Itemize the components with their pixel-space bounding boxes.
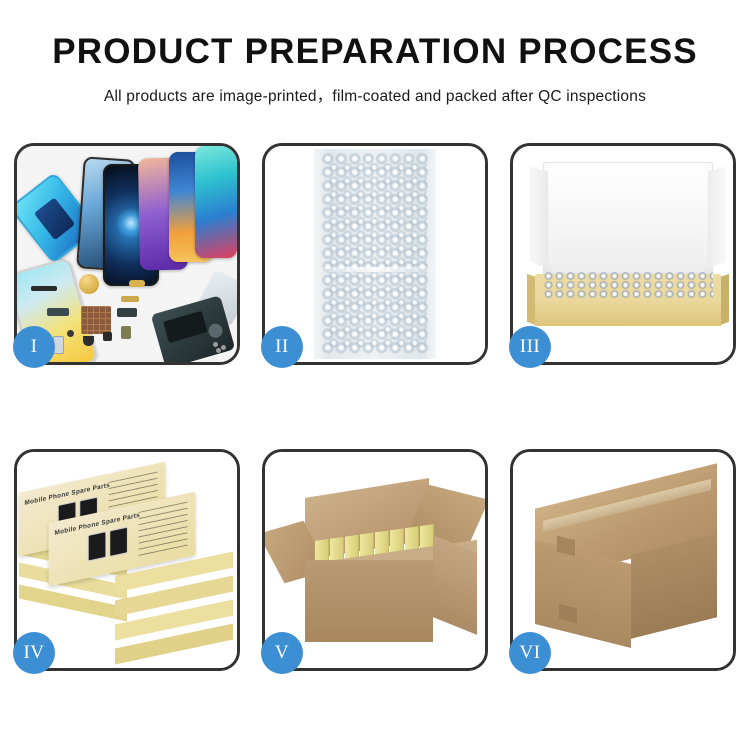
step-badge-6: VI — [509, 632, 551, 674]
connector-gold-icon — [129, 280, 145, 287]
camera-module-icon — [117, 308, 137, 317]
step-panel-1: I — [14, 143, 240, 365]
chip-array-icon — [81, 306, 111, 334]
step-badge-4: IV — [13, 632, 55, 674]
carton-front-face — [305, 560, 433, 642]
box-spec-lines-2 — [139, 502, 188, 557]
flex-connector-icon — [121, 296, 139, 302]
step-panel-2: II — [262, 143, 488, 365]
phone-screen-teal-icon — [195, 146, 237, 258]
carton-right-face — [433, 535, 477, 635]
step-panel-3: III — [510, 143, 736, 365]
step-badge-1: I — [13, 326, 55, 368]
page-title: PRODUCT PREPARATION PROCESS — [0, 34, 750, 71]
header: PRODUCT PREPARATION PROCESS All products… — [0, 0, 750, 106]
step-panel-6: VI — [510, 449, 736, 671]
wrap-seam — [314, 267, 436, 272]
step-badge-3: III — [509, 326, 551, 368]
product-preparation-infographic: PRODUCT PREPARATION PROCESS All products… — [0, 0, 750, 750]
earpiece-mesh-icon — [31, 286, 57, 291]
open-flat-box-photo — [513, 146, 733, 362]
bubble-wrap-sheet — [314, 149, 436, 359]
bubble-wrap-photo — [265, 146, 485, 362]
process-step-grid: I II III — [14, 143, 736, 671]
box-screen-image-2a — [88, 531, 107, 562]
open-carton-photo — [265, 452, 485, 668]
step-badge-2: II — [261, 326, 303, 368]
step-panel-5: V — [262, 449, 488, 671]
sealed-carton-photo — [513, 452, 733, 668]
flex-cable-icon — [47, 308, 69, 316]
tray-front-face — [535, 298, 721, 326]
ic-chip-icon — [103, 332, 112, 341]
battery-connector-icon — [121, 326, 131, 339]
bubble-pattern-overlay-icon — [327, 160, 427, 350]
box-screen-image-2b — [109, 527, 128, 558]
stacked-boxes-photo: Mobile Phone Spare Parts Mobile Phone Sp… — [17, 452, 237, 668]
speaker-icon — [83, 336, 94, 346]
phone-parts-photo — [17, 146, 237, 362]
step-badge-5: V — [261, 632, 303, 674]
foam-insert — [553, 196, 703, 272]
vibration-motor-icon — [79, 274, 99, 294]
step-panel-4: Mobile Phone Spare Parts Mobile Phone Sp… — [14, 449, 240, 671]
box-stack: Mobile Phone Spare Parts Mobile Phone Sp… — [17, 452, 237, 668]
screws-icon — [213, 342, 231, 352]
page-subtitle: All products are image-printed，film-coat… — [0, 84, 750, 106]
button-part-icon — [67, 330, 74, 337]
